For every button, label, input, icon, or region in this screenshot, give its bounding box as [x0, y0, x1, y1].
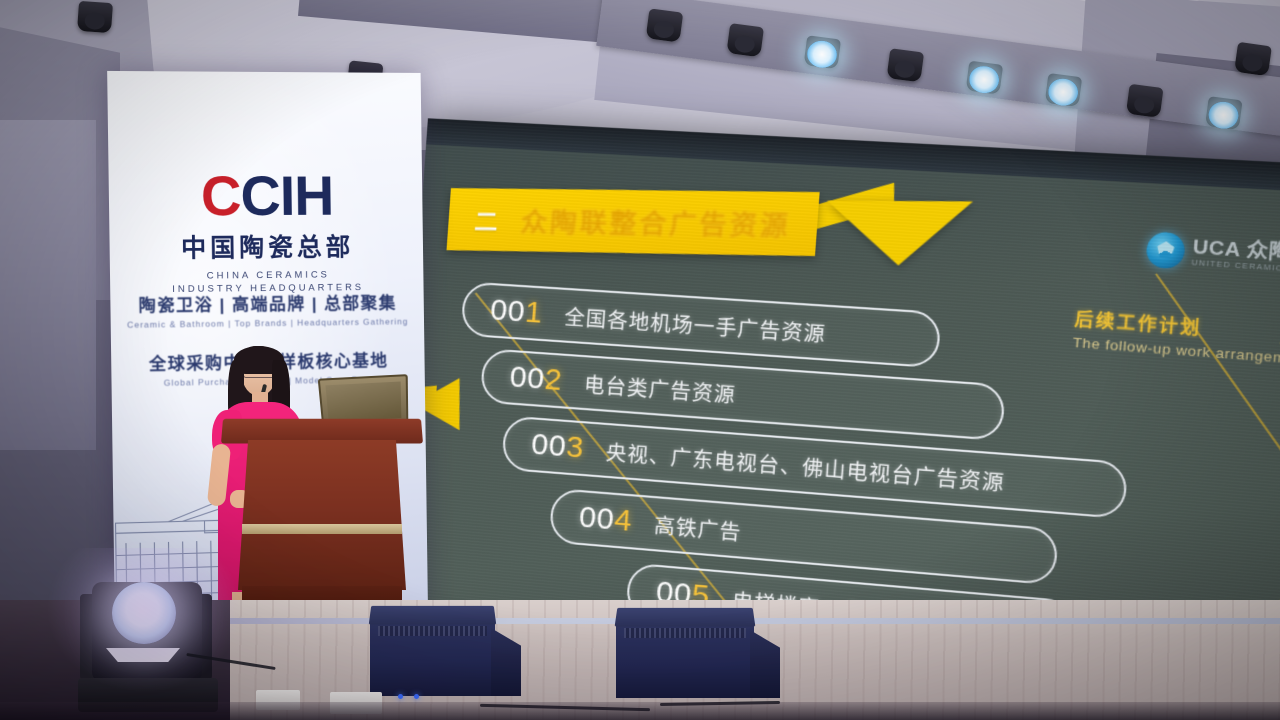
item-number: 002 — [509, 360, 564, 398]
status-led-2 — [414, 694, 419, 699]
moving-head-spotlight — [78, 568, 218, 720]
monitor-grille — [624, 628, 746, 638]
uca-logo: UCA 众陶联 UNITED CERAMICS ALLIANCE — [1145, 231, 1280, 281]
ccih-wordmark: CCIH — [109, 168, 423, 225]
ccih-english-line1: CHINA CERAMICS — [110, 269, 423, 283]
item-label: 高铁广告 — [653, 509, 742, 546]
item-label: 央视、广东电视台、佛山电视台广告资源 — [605, 436, 1006, 497]
uca-circle-icon — [1145, 231, 1186, 270]
ccih-letters-rest: CIH — [240, 164, 334, 227]
ccih-letter-c: C — [201, 164, 241, 227]
par-light-6 — [1045, 73, 1083, 107]
par-light-far-left — [77, 1, 113, 33]
slide-section-banner: 二 众陶联整合广告资源 — [447, 188, 820, 256]
par-light-far-right — [1234, 42, 1272, 76]
item-label: 全国各地机场一手广告资源 — [564, 301, 827, 348]
light-lens — [112, 582, 176, 644]
par-light-4 — [886, 48, 924, 82]
section-number: 二 — [474, 202, 501, 236]
item-number: 004 — [578, 500, 633, 539]
stage-monitor-left — [370, 604, 495, 700]
par-light-3 — [803, 35, 841, 69]
podium-accent-stripe — [242, 524, 402, 534]
laptop-screen — [325, 382, 401, 422]
monitor-top — [615, 608, 756, 627]
wall-left-pane — [0, 120, 96, 450]
stage-front-shadow — [0, 702, 1280, 720]
par-light-2 — [726, 23, 764, 57]
par-light-5 — [966, 61, 1004, 95]
monitor-grille — [378, 626, 487, 636]
decor-arrow-large — [826, 201, 973, 267]
conference-stage-photo: 二 众陶联整合广告资源 UCA 众陶联 UNITED CERAMICS ALLI… — [0, 0, 1280, 720]
monitor-top — [369, 606, 496, 625]
followup-block: 后续工作计划 The follow-up work arrangement — [1072, 304, 1280, 372]
ccih-logo: CCIH 中国陶瓷总部 CHINA CERAMICS INDUSTRY HEAD… — [109, 168, 424, 296]
item-number: 001 — [489, 293, 543, 331]
tagline-1-en: Ceramic & Bathroom | Top Brands | Headqu… — [111, 316, 424, 330]
podium-top-surface — [221, 419, 423, 444]
status-led-1 — [398, 694, 403, 699]
uca-logo-text: UCA 众陶联 UNITED CERAMICS ALLIANCE — [1191, 237, 1280, 277]
podium-front-panel — [238, 440, 406, 590]
par-light-1 — [646, 8, 684, 42]
tagline-1-cn: 陶瓷卫浴 | 高端品牌 | 总部聚集 — [110, 288, 424, 316]
lectern-podium — [232, 418, 412, 623]
par-light-7 — [1126, 84, 1164, 118]
item-number: 003 — [530, 427, 585, 465]
item-label: 电台类广告资源 — [583, 368, 737, 408]
stage-monitor-right — [616, 606, 754, 702]
par-light-8 — [1205, 96, 1243, 130]
ccih-chinese-name: 中国陶瓷总部 — [109, 227, 423, 265]
section-title: 众陶联整合广告资源 — [520, 201, 792, 242]
light-shutter — [106, 648, 180, 662]
